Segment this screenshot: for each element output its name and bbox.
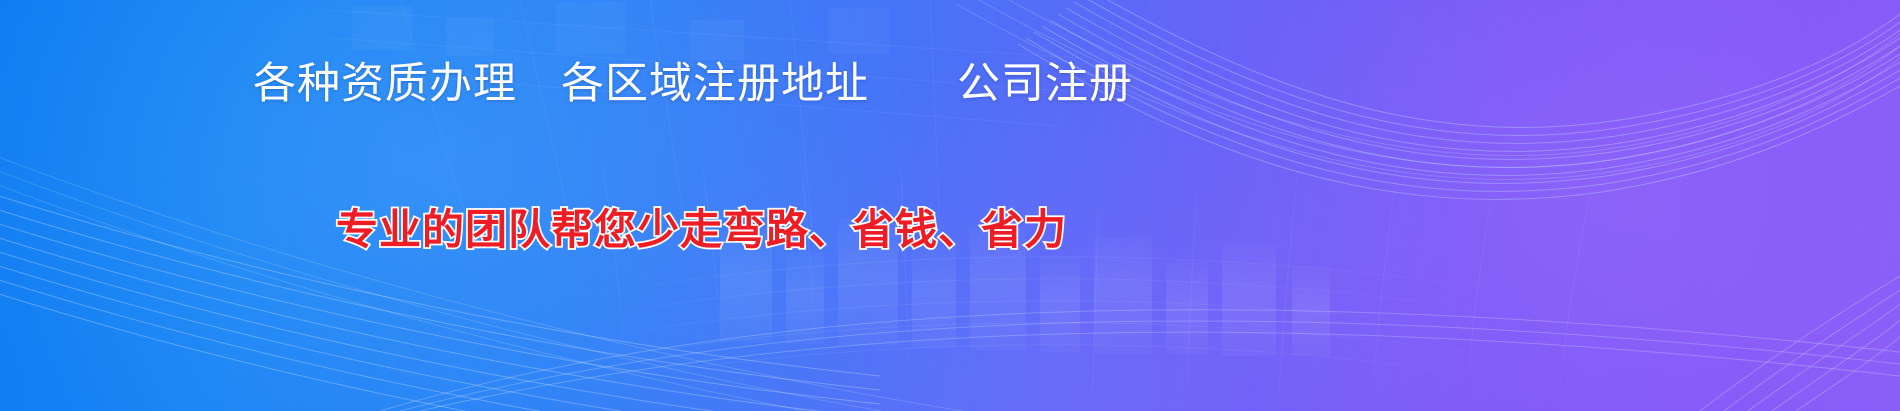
promotional-banner: 各种资质办理 各区域注册地址 公司注册 专业的团队帮您少走弯路、省钱、省力 bbox=[0, 0, 1900, 411]
banner-headline: 各种资质办理 各区域注册地址 公司注册 bbox=[253, 62, 1133, 108]
banner-content: 各种资质办理 各区域注册地址 公司注册 专业的团队帮您少走弯路、省钱、省力 bbox=[0, 0, 1900, 411]
banner-subline: 专业的团队帮您少走弯路、省钱、省力 bbox=[336, 208, 1067, 253]
